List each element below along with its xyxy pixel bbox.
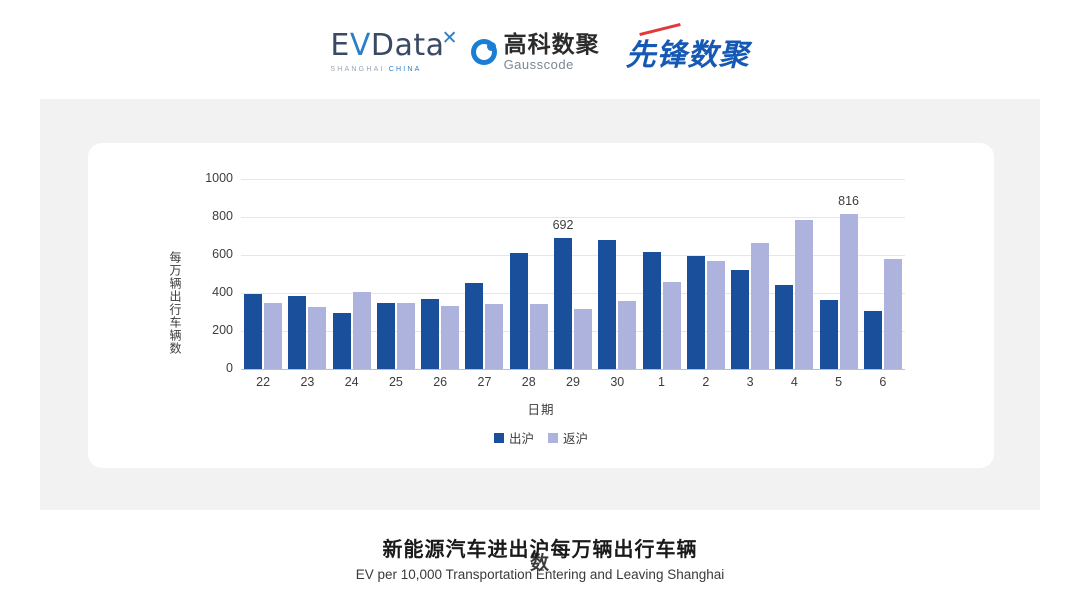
bar-group — [377, 179, 415, 369]
gausscode-text: 高科数聚 Gausscode — [504, 33, 600, 71]
legend-swatch-icon — [494, 433, 504, 443]
gausscode-circle-mark-icon — [471, 39, 497, 65]
x-axis-tick-label: 6 — [861, 375, 905, 389]
x-axis-tick-label: 27 — [462, 375, 506, 389]
bar-group — [465, 179, 503, 369]
bar-group — [244, 179, 282, 369]
xianfeng-logo: 先锋数聚 — [626, 30, 750, 74]
bar-in-22 — [264, 303, 282, 369]
x-axis-tick-label: 2 — [684, 375, 728, 389]
bar-in-4 — [795, 220, 813, 369]
bar-out-3 — [731, 270, 749, 369]
caption-english: EV per 10,000 Transportation Entering an… — [0, 567, 1080, 582]
bar-in-26 — [441, 306, 459, 369]
xianfeng-slash-icon — [639, 23, 680, 36]
x-axis-tick-label: 4 — [772, 375, 816, 389]
x-axis-tick-label: 28 — [507, 375, 551, 389]
x-axis-tick-label: 3 — [728, 375, 772, 389]
bar-group — [687, 179, 725, 369]
evdata-wordmark-v: V — [350, 28, 371, 63]
legend-item[interactable]: 出沪 — [494, 428, 534, 447]
bar-out-4 — [775, 285, 793, 369]
bar-group — [510, 179, 548, 369]
close-x-icon: ✕ — [442, 27, 458, 50]
bar-value-label: 692 — [541, 218, 585, 232]
bar-in-6 — [884, 259, 902, 369]
x-axis-tick-label: 24 — [330, 375, 374, 389]
bar-out-6 — [864, 311, 882, 369]
evdata-logo: EVData SHANGHAI CHINA ✕ — [330, 31, 444, 73]
x-axis-line — [241, 369, 905, 370]
bar-in-1 — [663, 282, 681, 369]
bar-in-3 — [751, 243, 769, 369]
bar-in-5 — [840, 214, 858, 369]
evdata-tagline: SHANGHAI CHINA — [330, 66, 421, 73]
bar-group — [288, 179, 326, 369]
bar-out-1 — [643, 252, 661, 369]
bar-in-24 — [353, 292, 371, 369]
y-axis-tick-label: 400 — [193, 285, 233, 299]
legend-label: 出沪 — [509, 428, 534, 447]
bar-out-30 — [598, 240, 616, 369]
legend-swatch-icon — [548, 433, 558, 443]
caption-chinese: 新能源汽车进出沪每万辆出行车辆 — [0, 533, 1080, 562]
bar-out-2 — [687, 256, 705, 369]
x-axis-title: 日期 — [88, 399, 994, 418]
x-axis-tick-label: 30 — [595, 375, 639, 389]
y-axis-title: 每万辆出行车辆数 — [170, 251, 184, 355]
xianfeng-wordmark: 先锋数聚 — [626, 38, 750, 73]
bar-group — [421, 179, 459, 369]
x-axis-tick-label: 23 — [285, 375, 329, 389]
slide-root: EVData SHANGHAI CHINA ✕ 高科数聚 Gausscode 先… — [0, 0, 1080, 608]
evdata-wordmark: EVData — [330, 31, 444, 61]
evdata-wordmark-prefix: E — [330, 28, 349, 63]
bar-out-29 — [554, 238, 572, 369]
bar-in-30 — [618, 301, 636, 369]
legend-label: 返沪 — [563, 428, 588, 447]
bar-out-23 — [288, 296, 306, 369]
bar-in-2 — [707, 261, 725, 369]
x-axis-tick-label: 22 — [241, 375, 285, 389]
bar-out-27 — [465, 283, 483, 369]
bar-value-label: 816 — [827, 194, 871, 208]
bar-out-26 — [421, 299, 439, 369]
bar-group — [731, 179, 769, 369]
x-axis-tick-label: 26 — [418, 375, 462, 389]
bar-group — [554, 179, 592, 369]
evdata-wordmark-suffix: Data — [371, 28, 445, 63]
logo-bar: EVData SHANGHAI CHINA ✕ 高科数聚 Gausscode 先… — [0, 22, 1080, 82]
bar-group — [775, 179, 813, 369]
bar-in-23 — [308, 307, 326, 369]
x-axis-tick-label: 29 — [551, 375, 595, 389]
bar-in-25 — [397, 303, 415, 369]
bar-in-27 — [485, 304, 503, 369]
y-axis-tick-label: 1000 — [193, 171, 233, 185]
evdata-tagline-right: CHINA — [389, 66, 422, 73]
bar-out-22 — [244, 294, 262, 369]
x-axis-tick-label: 1 — [640, 375, 684, 389]
x-axis-tick-label: 25 — [374, 375, 418, 389]
legend-item[interactable]: 返沪 — [548, 428, 588, 447]
bar-group — [643, 179, 681, 369]
bar-out-24 — [333, 313, 351, 369]
y-axis-tick-label: 800 — [193, 209, 233, 223]
chart-legend: 出沪返沪 — [88, 428, 994, 447]
bar-group — [598, 179, 636, 369]
bar-group — [333, 179, 371, 369]
x-axis-tick-label: 5 — [817, 375, 861, 389]
chart-card: 每万辆出行车辆数 日期 出沪返沪 02004006008001000222324… — [88, 143, 994, 468]
gausscode-logo: 高科数聚 Gausscode — [471, 33, 600, 71]
bar-out-25 — [377, 303, 395, 369]
bar-out-28 — [510, 253, 528, 369]
y-axis-tick-label: 200 — [193, 323, 233, 337]
gausscode-en-name: Gausscode — [504, 58, 600, 71]
y-axis-tick-label: 600 — [193, 247, 233, 261]
gausscode-cn-name: 高科数聚 — [504, 33, 600, 56]
bar-chart: 每万辆出行车辆数 日期 出沪返沪 02004006008001000222324… — [88, 143, 994, 468]
bar-out-5 — [820, 300, 838, 369]
bar-in-29 — [574, 309, 592, 369]
y-axis-tick-label: 0 — [193, 361, 233, 375]
evdata-tagline-left: SHANGHAI — [330, 66, 388, 73]
bar-in-28 — [530, 304, 548, 369]
